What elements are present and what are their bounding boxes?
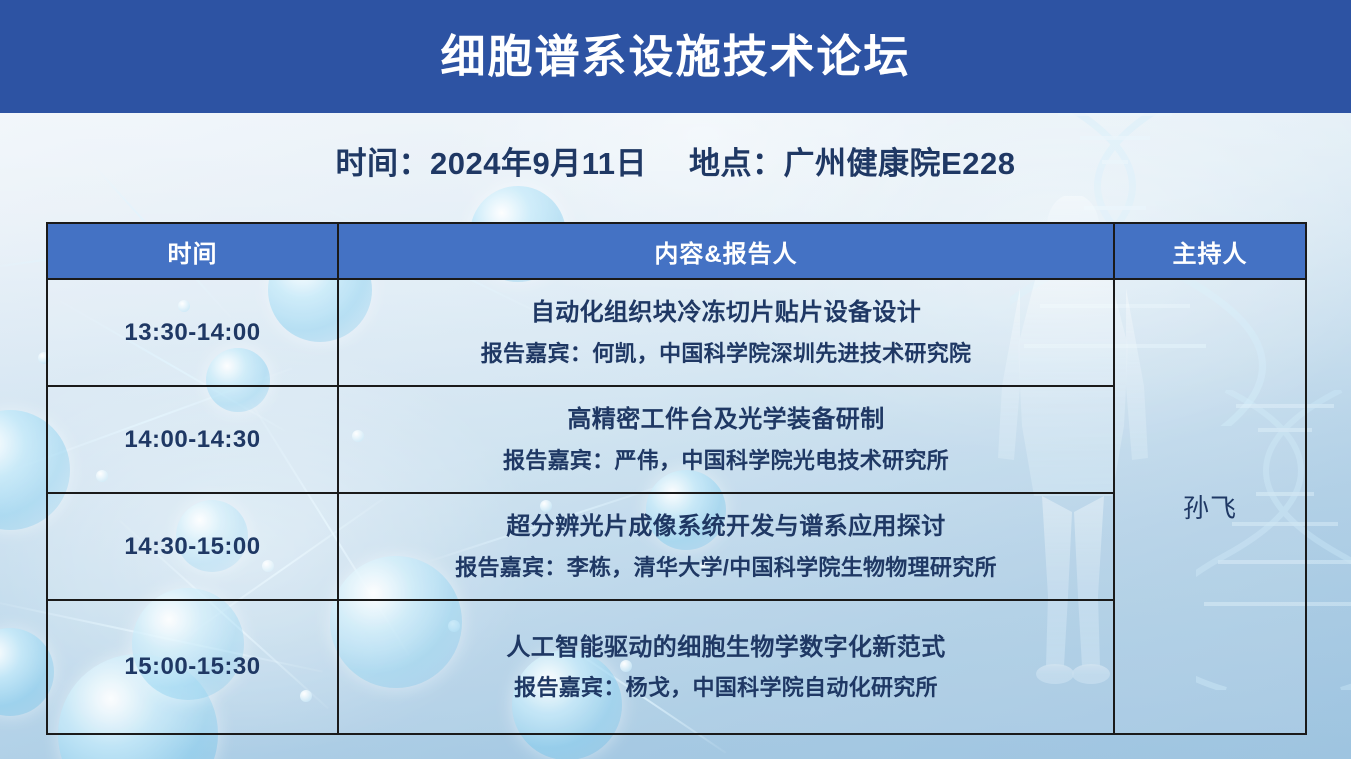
session-content: 高精密工件台及光学装备研制 报告嘉宾：严伟，中国科学院光电技术研究所: [338, 386, 1114, 493]
talk-speaker: 报告嘉宾：严伟，中国科学院光电技术研究所: [349, 449, 1103, 472]
session-content: 超分辨光片成像系统开发与谱系应用探讨 报告嘉宾：李栋，清华大学/中国科学院生物物…: [338, 493, 1114, 600]
column-header-content: 内容&报告人: [338, 223, 1114, 279]
page-title: 细胞谱系设施技术论坛: [440, 34, 910, 79]
session-time: 14:30-15:00: [47, 493, 338, 600]
table-header-row: 时间 内容&报告人 主持人: [47, 223, 1306, 279]
session-time: 15:00-15:30: [47, 600, 338, 734]
title-banner: 细胞谱系设施技术论坛: [0, 0, 1351, 113]
event-time: 时间：2024年9月11日: [336, 146, 647, 181]
event-meta: 时间：2024年9月11日地点：广州健康院E228: [0, 138, 1351, 183]
session-time: 14:00-14:30: [47, 386, 338, 493]
talk-speaker: 报告嘉宾：杨戈，中国科学院自动化研究所: [349, 676, 1103, 699]
talk-title: 高精密工件台及光学装备研制: [349, 407, 1103, 432]
session-time: 13:30-14:00: [47, 279, 338, 386]
event-location: 地点：广州健康院E228: [689, 146, 1015, 181]
table-row: 13:30-14:00 自动化组织块冷冻切片贴片设备设计 报告嘉宾：何凯，中国科…: [47, 279, 1306, 386]
session-host: 孙飞: [1114, 279, 1306, 734]
talk-speaker: 报告嘉宾：何凯，中国科学院深圳先进技术研究院: [349, 342, 1103, 365]
talk-title: 超分辨光片成像系统开发与谱系应用探讨: [349, 514, 1103, 539]
agenda-table: 时间 内容&报告人 主持人 13:30-14:00 自动化组织块冷冻切片贴片设备…: [46, 222, 1307, 735]
session-content: 人工智能驱动的细胞生物学数字化新范式 报告嘉宾：杨戈，中国科学院自动化研究所: [338, 600, 1114, 734]
column-header-host: 主持人: [1114, 223, 1306, 279]
presentation-slide: 细胞谱系设施技术论坛 时间：2024年9月11日地点：广州健康院E228 时间 …: [0, 0, 1351, 759]
talk-title: 自动化组织块冷冻切片贴片设备设计: [349, 300, 1103, 325]
talk-speaker: 报告嘉宾：李栋，清华大学/中国科学院生物物理研究所: [349, 556, 1103, 579]
column-header-time: 时间: [47, 223, 338, 279]
session-content: 自动化组织块冷冻切片贴片设备设计 报告嘉宾：何凯，中国科学院深圳先进技术研究院: [338, 279, 1114, 386]
talk-title: 人工智能驱动的细胞生物学数字化新范式: [349, 635, 1103, 660]
